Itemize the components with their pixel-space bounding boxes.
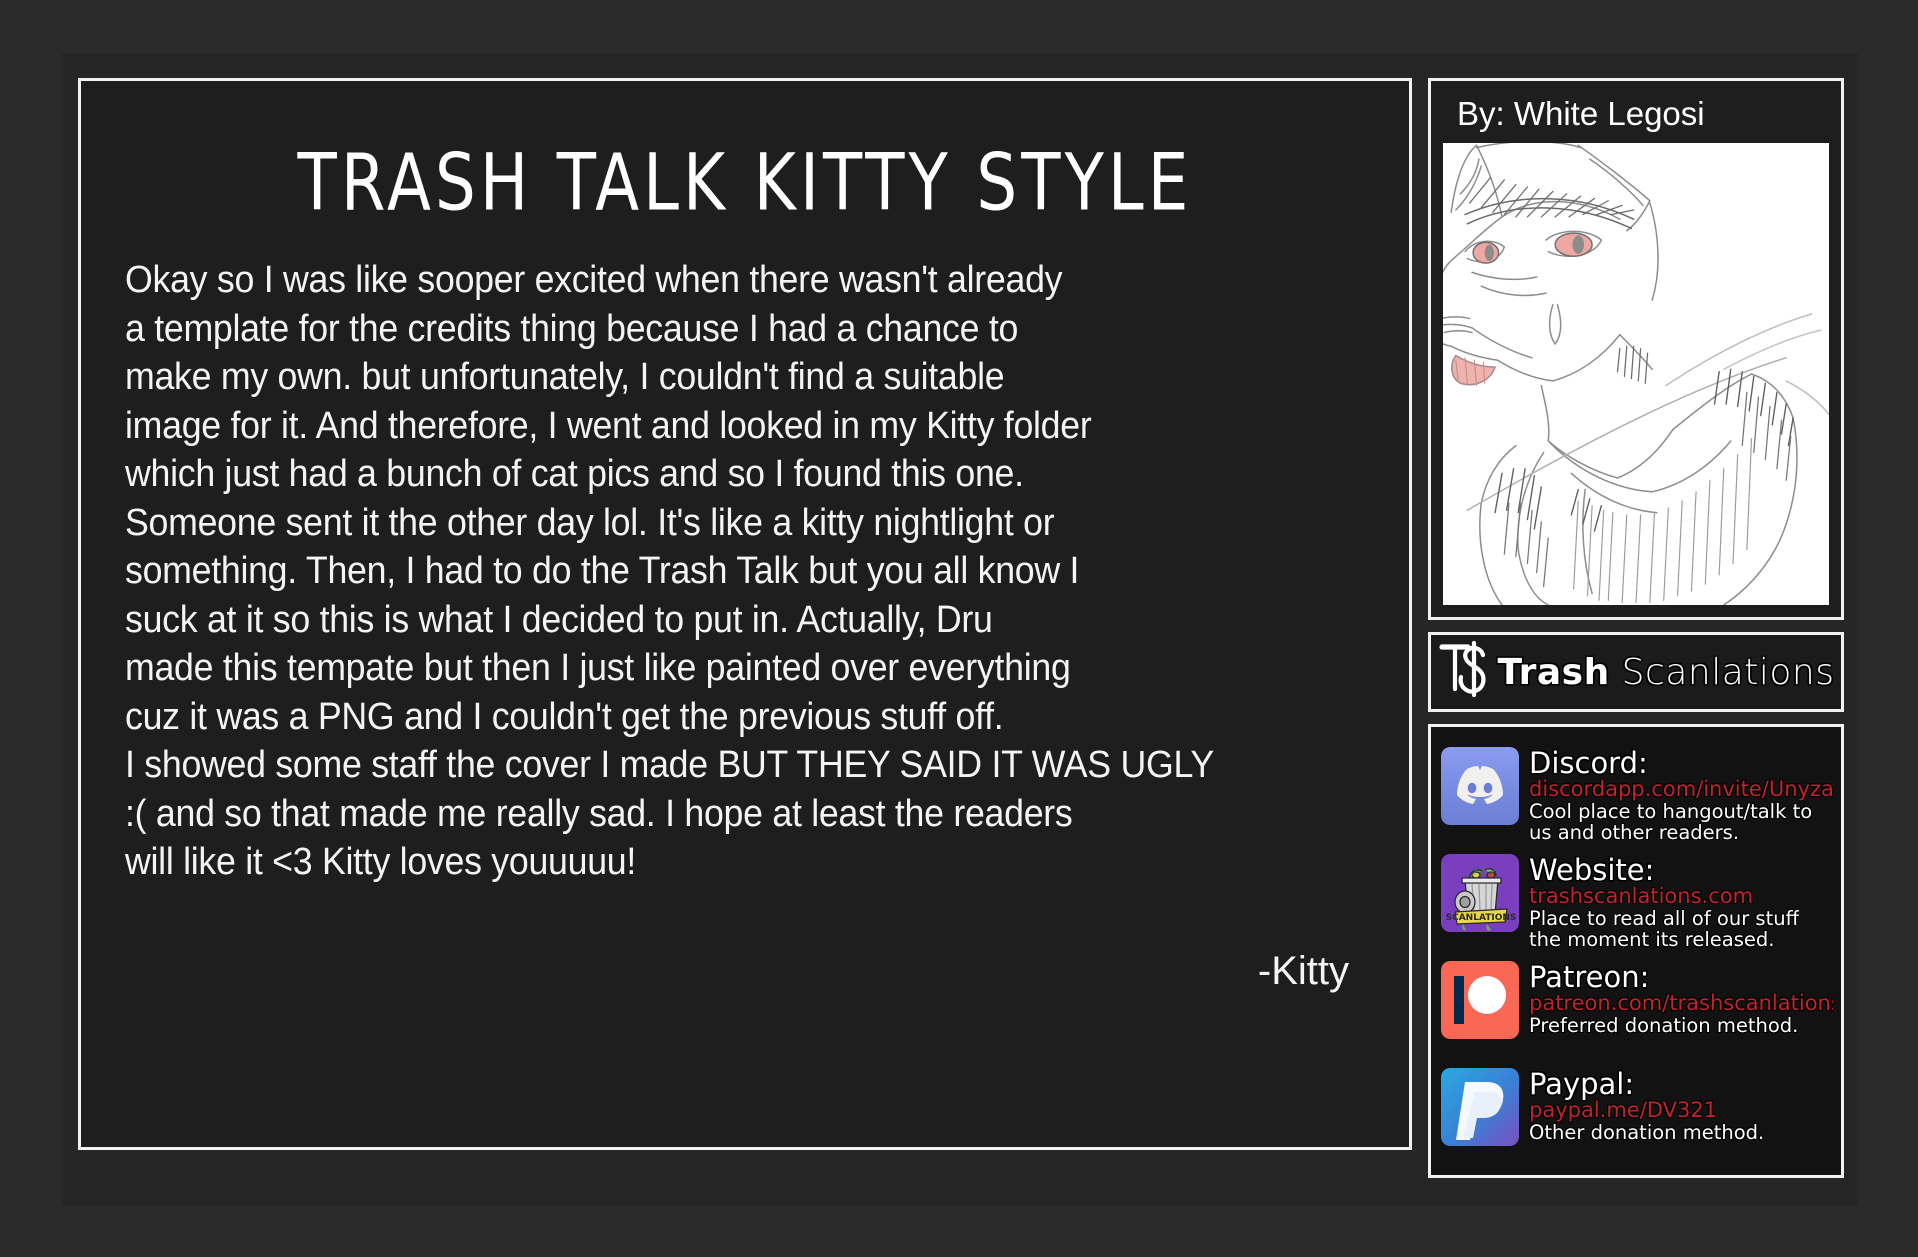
logo-word-bold: Trash xyxy=(1498,652,1610,693)
discord-title: Discord: xyxy=(1529,748,1833,778)
paypal-url[interactable]: paypal.me/DV321 xyxy=(1529,1099,1764,1122)
credits-column: By: White Legosi xyxy=(1428,78,1844,1178)
links-box: Discord: discordapp.com/invite/UnyzaEE C… xyxy=(1428,724,1844,1178)
website-trashcan-icon[interactable]: SCANLATIONS xyxy=(1441,854,1519,932)
credits-page: TRASH TALK KITTY STYLE Okay so I was lik… xyxy=(0,0,1918,1257)
patreon-url[interactable]: patreon.com/trashscanlations xyxy=(1529,992,1833,1015)
scanlation-group-logo: Trash Scanlations xyxy=(1428,632,1844,712)
author-credit: By: White Legosi xyxy=(1443,91,1829,143)
trash-talk-panel: TRASH TALK KITTY STYLE Okay so I was lik… xyxy=(78,78,1412,1150)
link-row-discord[interactable]: Discord: discordapp.com/invite/UnyzaEE C… xyxy=(1441,747,1833,835)
website-title: Website: xyxy=(1529,855,1799,885)
patreon-desc-line1: Preferred donation method. xyxy=(1529,1015,1833,1036)
page-title: TRASH TALK KITTY STYLE xyxy=(113,137,1378,228)
link-row-paypal[interactable]: Paypal: paypal.me/DV321 Other donation m… xyxy=(1441,1068,1833,1156)
scanlation-group-name: Trash Scanlations xyxy=(1498,652,1835,693)
paypal-icon[interactable] xyxy=(1441,1068,1519,1146)
link-row-website[interactable]: SCANLATIONS Website: trashscanlations.co… xyxy=(1441,854,1833,942)
artwork-sketch xyxy=(1443,143,1829,605)
discord-url[interactable]: discordapp.com/invite/UnyzaEE xyxy=(1529,778,1833,801)
website-desc-line2: the moment its released. xyxy=(1529,929,1799,950)
trash-talk-body: Okay so I was like sooper excited when t… xyxy=(125,256,1291,887)
website-text: Website: trashscanlations.com Place to r… xyxy=(1529,854,1799,950)
website-url[interactable]: trashscanlations.com xyxy=(1529,885,1799,908)
content-columns: TRASH TALK KITTY STYLE Okay so I was lik… xyxy=(78,78,1844,1178)
svg-text:SCANLATIONS: SCANLATIONS xyxy=(1446,913,1517,923)
discord-icon[interactable] xyxy=(1441,747,1519,825)
patreon-title: Patreon: xyxy=(1529,962,1833,992)
wolf-sketch-icon xyxy=(1443,143,1829,605)
patreon-text: Patreon: patreon.com/trashscanlations Pr… xyxy=(1529,961,1833,1036)
author-artwork-box: By: White Legosi xyxy=(1428,78,1844,620)
paypal-text: Paypal: paypal.me/DV321 Other donation m… xyxy=(1529,1068,1764,1143)
signature: -Kitty xyxy=(125,949,1365,994)
discord-text: Discord: discordapp.com/invite/UnyzaEE C… xyxy=(1529,747,1833,843)
ts-monogram-icon xyxy=(1438,639,1494,706)
link-row-patreon[interactable]: Patreon: patreon.com/trashscanlations Pr… xyxy=(1441,961,1833,1049)
paypal-desc-line1: Other donation method. xyxy=(1529,1122,1764,1143)
logo-word-thin: Scanlations xyxy=(1610,652,1835,693)
discord-desc-line1: Cool place to hangout/talk to xyxy=(1529,801,1833,822)
discord-desc-line2: us and other readers. xyxy=(1529,822,1833,843)
patreon-icon[interactable] xyxy=(1441,961,1519,1039)
paypal-title: Paypal: xyxy=(1529,1069,1764,1099)
website-desc-line1: Place to read all of our stuff xyxy=(1529,908,1799,929)
